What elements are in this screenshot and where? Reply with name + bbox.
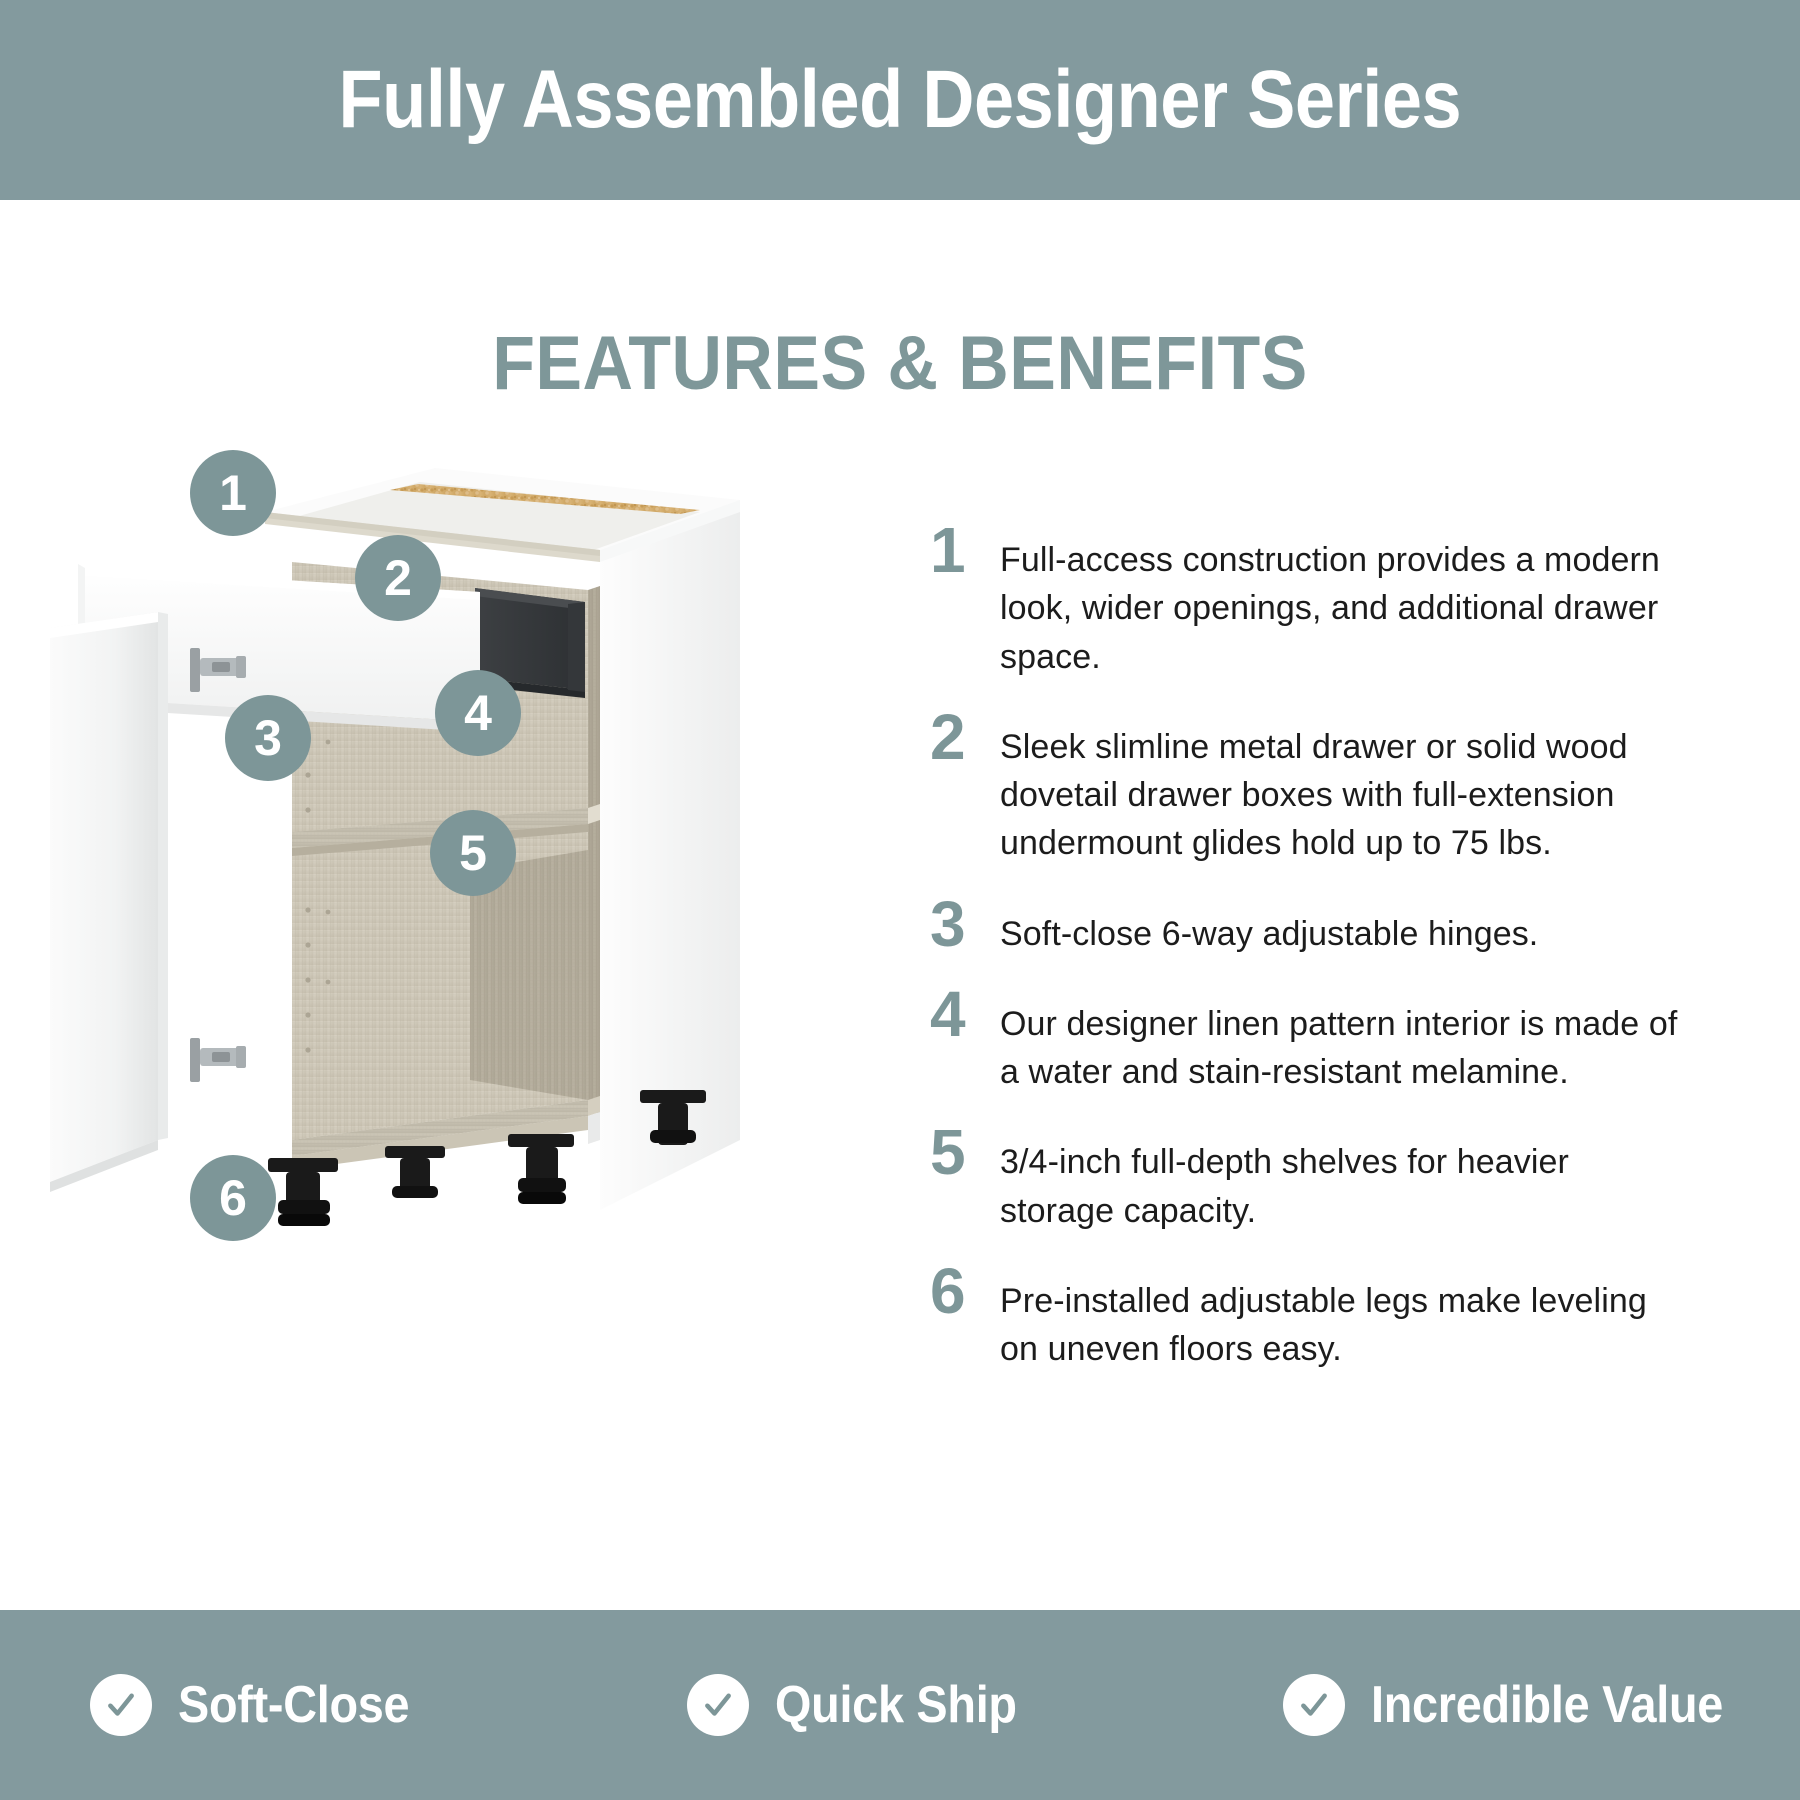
footer-badge-quick-ship: Quick Ship [607, 1674, 1204, 1736]
callout-6: 6 [190, 1155, 276, 1241]
callout-1: 1 [190, 450, 276, 536]
feature-text-4: Our designer linen pattern interior is m… [1000, 984, 1690, 1097]
feature-number-2: 2 [930, 707, 1000, 767]
door-hinge-bottom [190, 1038, 246, 1082]
footer-badge-incredible-value: Incredible Value [1203, 1674, 1800, 1736]
infographic-page: Fully Assembled Designer Series FEATURES… [0, 0, 1800, 1800]
feature-text-5: 3/4-inch full-depth shelves for heavier … [1000, 1122, 1690, 1235]
feature-number-1: 1 [930, 520, 1000, 580]
feature-text-6: Pre-installed adjustable legs make level… [1000, 1261, 1690, 1374]
feature-item-4: 4 Our designer linen pattern interior is… [930, 984, 1690, 1097]
callout-4: 4 [435, 670, 521, 756]
feature-item-5: 5 3/4-inch full-depth shelves for heavie… [930, 1122, 1690, 1235]
feature-item-3: 3 Soft-close 6-way adjustable hinges. [930, 894, 1690, 958]
section-heading: FEATURES & BENEFITS [72, 320, 1728, 407]
callout-5: 5 [430, 810, 516, 896]
feature-text-2: Sleek slimline metal drawer or solid woo… [1000, 707, 1690, 868]
callout-3: 3 [225, 695, 311, 781]
feature-item-6: 6 Pre-installed adjustable legs make lev… [930, 1261, 1690, 1374]
check-circle-icon [1283, 1674, 1345, 1736]
feature-number-4: 4 [930, 984, 1000, 1044]
footer-badge-soft-close: Soft-Close [0, 1674, 607, 1736]
product-illustration: 1 2 3 4 5 6 [40, 440, 820, 1340]
header-bar: Fully Assembled Designer Series [0, 0, 1800, 200]
feature-number-6: 6 [930, 1261, 1000, 1321]
footer-bar: Soft-Close Quick Ship Incredible Value [0, 1610, 1800, 1800]
feature-item-1: 1 Full-access construction provides a mo… [930, 520, 1690, 681]
feature-item-2: 2 Sleek slimline metal drawer or solid w… [930, 707, 1690, 868]
cabinet-door [50, 612, 168, 1192]
feature-text-3: Soft-close 6-way adjustable hinges. [1000, 894, 1690, 958]
footer-label-incredible-value: Incredible Value [1371, 1675, 1723, 1735]
feature-number-5: 5 [930, 1122, 1000, 1182]
footer-label-soft-close: Soft-Close [178, 1675, 409, 1735]
callout-2: 2 [355, 535, 441, 621]
check-circle-icon [687, 1674, 749, 1736]
features-list: 1 Full-access construction provides a mo… [930, 520, 1690, 1399]
check-circle-icon [90, 1674, 152, 1736]
page-title: Fully Assembled Designer Series [339, 53, 1462, 147]
footer-label-quick-ship: Quick Ship [775, 1675, 1017, 1735]
feature-text-1: Full-access construction provides a mode… [1000, 520, 1690, 681]
feature-number-3: 3 [930, 894, 1000, 954]
